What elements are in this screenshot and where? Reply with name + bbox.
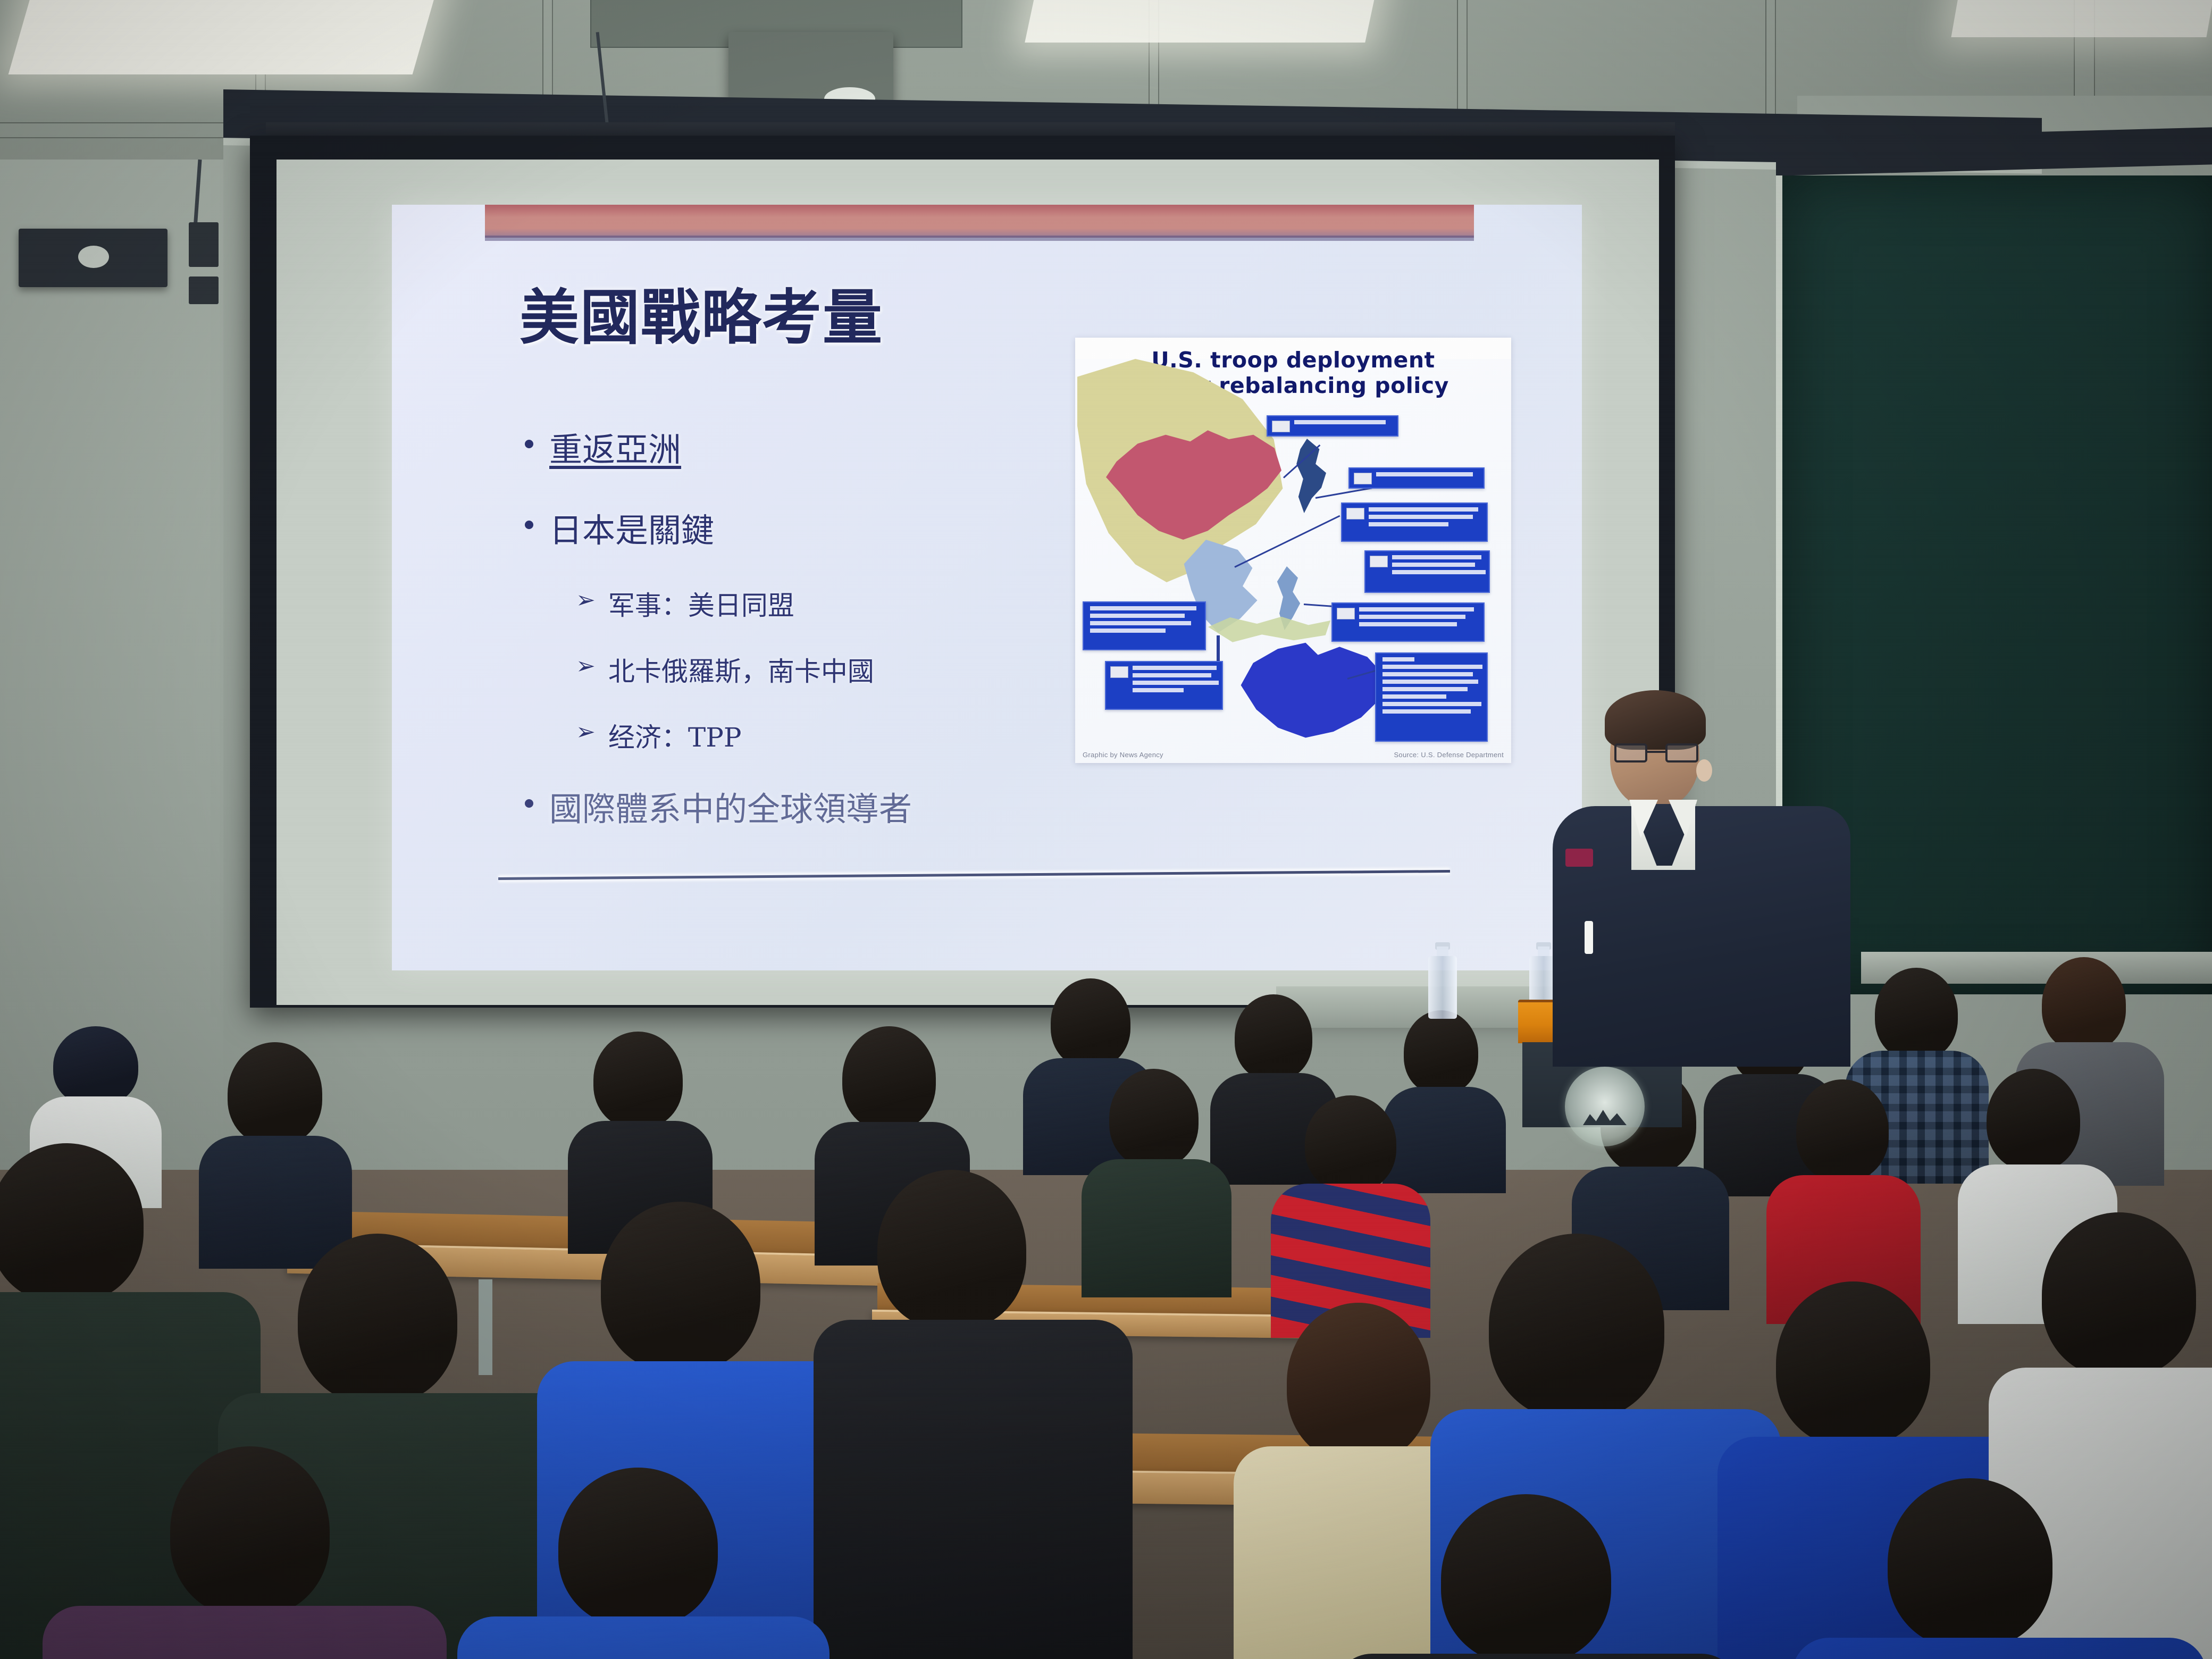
callout-text-line [1090, 614, 1185, 618]
presenter-badge [1565, 849, 1593, 867]
head [601, 1202, 760, 1372]
glasses-icon [1614, 743, 1698, 763]
flag-icon-philippines [1370, 556, 1388, 567]
callout-text-line [1359, 622, 1457, 626]
flag-icon-japan [1354, 473, 1372, 484]
callout-text-line [1392, 570, 1486, 574]
glasses-lens-right [1665, 743, 1698, 763]
map-credit-left: Graphic by News Agency [1083, 751, 1163, 759]
presentation-slide: 美國戰略考量 重返亞洲 日本是關鍵 ➢ 军事：美日同盟 ➢ 北卡俄羅斯，南卡中國… [392, 205, 1582, 970]
map-callout-box [1364, 550, 1490, 593]
callout-text-line [1382, 702, 1481, 706]
head [1888, 1478, 2052, 1648]
presenter-sweater [1553, 806, 1850, 1067]
callout-text-line [1369, 515, 1473, 519]
head [558, 1468, 718, 1627]
head [2042, 1212, 2196, 1377]
university-crest-icon [1565, 1067, 1645, 1146]
wall-speaker [19, 229, 167, 287]
head [1287, 1303, 1430, 1462]
flag-icon-singapore [1337, 608, 1355, 619]
torso [1335, 1654, 1739, 1659]
head [2042, 957, 2126, 1052]
head [1109, 1069, 1199, 1168]
flag-icon-south-korea [1272, 421, 1290, 432]
sub-bullet-item: ➢ 军事：美日同盟 [576, 584, 1088, 623]
torso [814, 1320, 1133, 1659]
map-callout-box [1105, 661, 1223, 710]
callout-text-line [1392, 555, 1481, 559]
map-callout-box [1331, 602, 1485, 642]
callout-text-line [1382, 687, 1468, 691]
sub-bullet-text: 军事：美日同盟 [608, 584, 794, 623]
ceiling-light-panel [1951, 0, 2212, 37]
callout-text-line [1382, 657, 1414, 661]
us-troop-deployment-map: U.S. troop deployment under rebalancing … [1075, 338, 1511, 763]
head [1796, 1079, 1889, 1182]
callout-text-line [1382, 665, 1482, 669]
bench-leg [479, 1279, 492, 1375]
callout-text-line [1090, 629, 1166, 633]
map-credit: Graphic by News Agency Source: U.S. Defe… [1083, 751, 1504, 759]
head [1441, 1494, 1611, 1659]
callout-text-line [1133, 681, 1219, 685]
glasses-lens-left [1614, 743, 1647, 763]
bullet-item: 重返亞洲 [525, 423, 1088, 471]
callout-text-line [1359, 615, 1465, 619]
torso [43, 1606, 447, 1659]
ceiling-light-panel [1025, 0, 1379, 43]
sub-bullet-text: 经济：TPP [608, 716, 742, 755]
arrow-bullet-icon: ➢ [576, 652, 596, 680]
callout-text-line [1376, 472, 1473, 476]
head [228, 1042, 322, 1145]
head [1235, 994, 1312, 1080]
callout-text-line [1369, 507, 1478, 512]
bullet-item: 國際體系中的全球領導者 [525, 782, 1088, 830]
map-callout-box [1348, 467, 1485, 489]
callout-text-line [1090, 606, 1196, 610]
flag-icon-thailand [1110, 666, 1128, 678]
head [1305, 1095, 1396, 1192]
callout-text-line [1359, 607, 1474, 611]
sub-bullet-text: 北卡俄羅斯，南卡中國 [608, 650, 874, 689]
torso [1382, 1087, 1506, 1193]
callout-text-line [1392, 563, 1475, 567]
head [53, 1026, 138, 1106]
sub-bullet-item: ➢ 北卡俄羅斯，南卡中國 [576, 650, 1088, 689]
callout-text-line [1369, 522, 1448, 526]
map-callout-box [1341, 502, 1488, 542]
bullet-item: 日本是關鍵 [525, 504, 1088, 551]
bullet-dot-icon [525, 521, 533, 529]
head [593, 1032, 683, 1128]
head [1987, 1069, 2080, 1171]
callout-text-line [1382, 680, 1478, 684]
sub-bullet-item: ➢ 经济：TPP [576, 716, 1088, 755]
callout-text-line [1133, 673, 1211, 677]
callout-text-line [1382, 672, 1473, 676]
speaker-cone-icon [78, 246, 109, 268]
torso [457, 1616, 829, 1659]
bottle-body [1428, 956, 1457, 1019]
head [1404, 1010, 1478, 1094]
torso [1792, 1638, 2207, 1659]
slide-bullet-list: 重返亞洲 日本是關鍵 ➢ 军事：美日同盟 ➢ 北卡俄羅斯，南卡中國 ➢ 经济：T… [525, 423, 1088, 863]
ceiling-light-panel [9, 0, 439, 74]
head [1875, 968, 1958, 1060]
head [877, 1170, 1026, 1329]
bullet-text: 重返亞洲 [549, 423, 681, 471]
bullet-text: 國際體系中的全球領導者 [549, 782, 912, 830]
slide-accent-band-shadow [485, 236, 1474, 241]
head [298, 1234, 457, 1404]
callout-text-line [1382, 694, 1446, 699]
pen-icon [1585, 921, 1593, 954]
callout-text-line [1382, 709, 1471, 714]
map-callout-box [1267, 415, 1398, 437]
head [170, 1446, 330, 1616]
callout-text-line [1090, 621, 1191, 625]
head [1051, 978, 1130, 1068]
presenter-hair [1605, 690, 1706, 750]
flag-icon-guam [1346, 508, 1364, 520]
wall-jack [189, 222, 219, 267]
wall-jack [189, 276, 219, 304]
map-callout-box [1083, 601, 1206, 650]
callout-text-line [1133, 688, 1184, 692]
torso [199, 1136, 352, 1269]
bullet-dot-icon [525, 799, 533, 808]
torso [1082, 1159, 1231, 1297]
glasses-bridge [1647, 751, 1665, 753]
slide-title: 美國戰略考量 [520, 270, 883, 356]
presenter-ear [1696, 759, 1712, 782]
callout-text-line [1294, 420, 1386, 424]
map-callout-box [1375, 652, 1488, 742]
callout-text-line [1133, 666, 1217, 670]
slide-accent-band [485, 205, 1474, 238]
map-credit-right: Source: U.S. Defense Department [1394, 751, 1504, 759]
bullet-dot-icon [525, 440, 533, 448]
lecture-hall-photo: 美國戰略考量 重返亞洲 日本是關鍵 ➢ 军事：美日同盟 ➢ 北卡俄羅斯，南卡中國… [0, 0, 2212, 1659]
bullet-text: 日本是關鍵 [549, 504, 714, 551]
slide-bottom-rule [498, 870, 1450, 880]
head [1489, 1234, 1664, 1420]
head [1776, 1281, 1930, 1446]
arrow-bullet-icon: ➢ [576, 718, 596, 745]
head [842, 1026, 936, 1130]
arrow-bullet-icon: ➢ [576, 586, 596, 614]
